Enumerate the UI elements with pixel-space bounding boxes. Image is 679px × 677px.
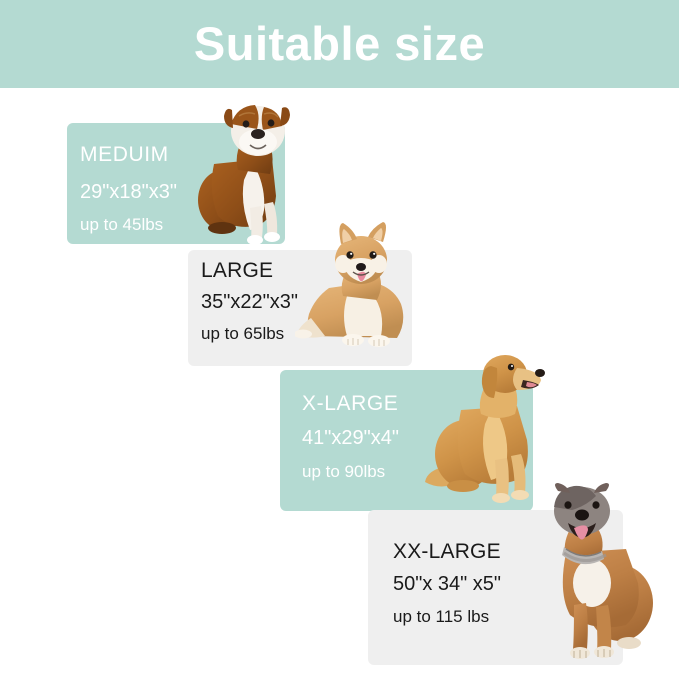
bulldog-icon	[192, 100, 290, 250]
page-title: Suitable size	[194, 20, 485, 67]
size-label-xxlarge: XX-LARGE	[393, 540, 501, 564]
dimensions-large: 35"x22"x3"	[201, 291, 298, 314]
pitbull-icon	[530, 483, 655, 673]
dimensions-medium: 29"x18"x3"	[80, 181, 177, 204]
golden-retriever-icon	[425, 348, 545, 518]
weight-limit-medium: up to 45lbs	[80, 215, 163, 235]
weight-limit-xlarge: up to 90lbs	[302, 462, 385, 482]
size-label-medium: MEDUIM	[80, 143, 169, 167]
dimensions-xxlarge: 50"x 34" x5"	[393, 573, 501, 596]
page-header-banner: Suitable size	[0, 0, 679, 88]
shiba-inu-icon	[295, 222, 415, 362]
weight-limit-large: up to 65lbs	[201, 324, 284, 344]
size-label-xlarge: X-LARGE	[302, 392, 398, 416]
weight-limit-xxlarge: up to 115 lbs	[393, 607, 489, 627]
dimensions-xlarge: 41"x29"x4"	[302, 427, 399, 450]
size-label-large: LARGE	[201, 259, 273, 283]
